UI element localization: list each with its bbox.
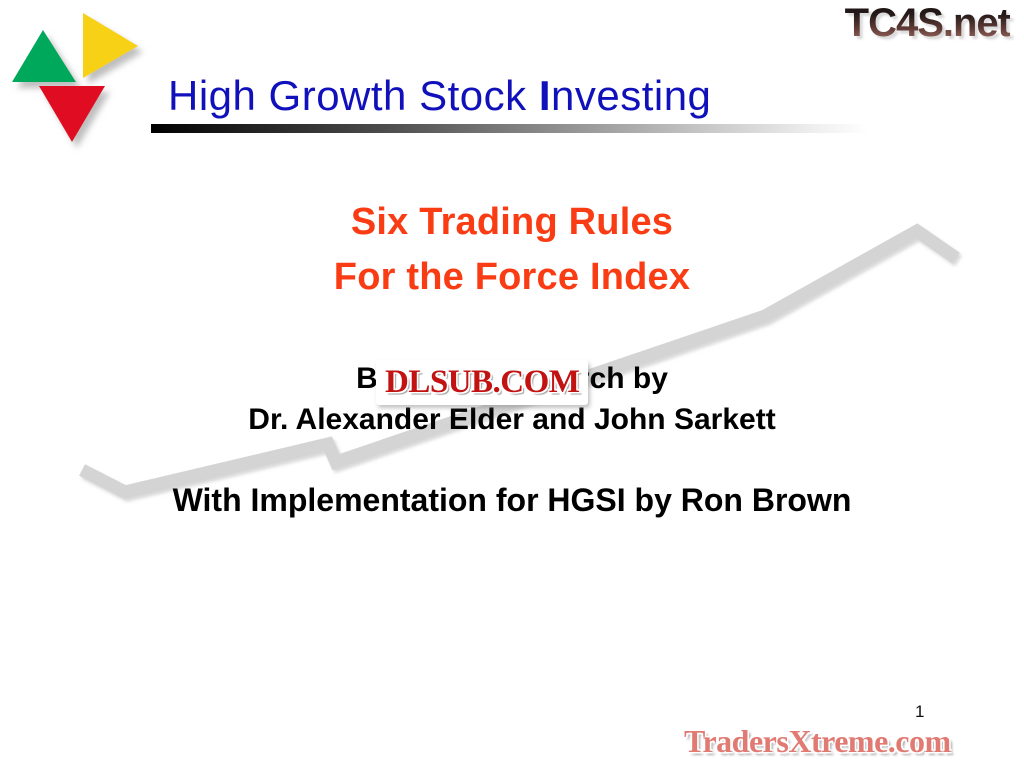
tradersxtreme-wordmark: TradersXtreme.com xyxy=(684,723,951,759)
headline-line-1: Six Trading Rules xyxy=(0,195,1024,250)
credits-spacer xyxy=(0,440,1024,478)
green-up-triangle xyxy=(12,30,76,82)
page-number: 1 xyxy=(915,702,924,722)
dlsub-watermark: DLSUB.COM xyxy=(376,360,588,405)
tc4s-wordmark: TC4S.net xyxy=(845,1,1010,45)
headline-block: Six Trading Rules For the Force Index xyxy=(0,195,1024,305)
headline-line-2: For the Force Index xyxy=(0,250,1024,305)
credits-line-authors: Dr. Alexander Elder and John Sarkett xyxy=(0,399,1024,440)
title-divider-gradient-bar xyxy=(151,124,869,133)
page-title-part-1: High Growth Stock xyxy=(168,72,539,119)
three-triangles-logo xyxy=(8,8,158,158)
page-title-part-3: nvesting xyxy=(551,72,711,119)
yellow-right-triangle xyxy=(83,13,138,78)
page-title: High Growth Stock Investing xyxy=(168,71,711,121)
page-title-part-2: I xyxy=(539,72,551,119)
credits-line-implementation: With Implementation for HGSI by Ron Brow… xyxy=(0,478,1024,522)
red-down-triangle xyxy=(39,86,105,142)
slide-canvas: TC4S.net TC4S.net High Growth Stock Inve… xyxy=(0,0,1024,768)
